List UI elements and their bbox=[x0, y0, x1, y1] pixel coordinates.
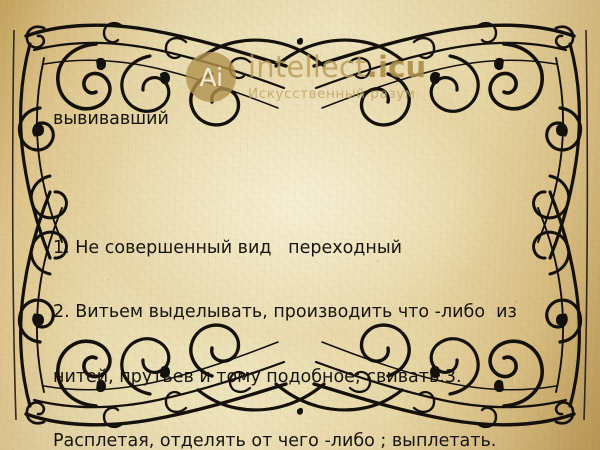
sense-line: 2. Витьем выделывать, производить что -л… bbox=[53, 302, 558, 324]
sense-list: 1. Не совершенный вид переходный 2. Вить… bbox=[53, 195, 558, 450]
dictionary-entry: вывивавший 1. Не совершенный вид переход… bbox=[53, 66, 558, 450]
sense-line: 1. Не совершенный вид переходный bbox=[53, 238, 558, 260]
headword: вывивавший bbox=[53, 109, 558, 131]
sense-line: Расплетая, отделять от чего -либо ; выпл… bbox=[53, 431, 558, 450]
sense-line: нитей, прутьев и тому подобное; свивать.… bbox=[53, 367, 558, 389]
parchment-card: Ai intellect.icu Искусственный разум выв… bbox=[0, 0, 600, 450]
